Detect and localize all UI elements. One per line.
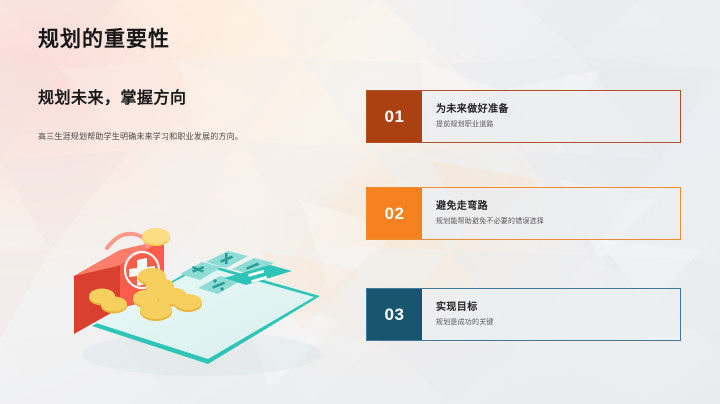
section-description: 高三生涯规划帮助学生明确未来学习和职业发展的方向。 bbox=[38, 131, 288, 143]
list-item-03[interactable]: 03 实现目标 规划是成功的关键 bbox=[366, 288, 681, 341]
card-subtitle: 规划是成功的关键 bbox=[436, 318, 680, 327]
card-subtitle: 规划能帮助避免不必要的错误选择 bbox=[436, 217, 680, 226]
card-number-badge: 03 bbox=[367, 289, 422, 340]
card-number-badge: 01 bbox=[367, 91, 422, 142]
card-title: 避免走弯路 bbox=[436, 200, 680, 213]
card-subtitle: 提前规划职业道路 bbox=[436, 120, 680, 129]
card-body: 为未来做好准备 提前规划职业道路 bbox=[422, 91, 680, 142]
page-title: 规划的重要性 bbox=[38, 27, 170, 52]
slide-canvas: 规划的重要性 规划未来，掌握方向 高三生涯规划帮助学生明确未来学习和职业发展的方… bbox=[0, 0, 720, 404]
key-points-list: 01 为未来做好准备 提前规划职业道路 02 避免走弯路 规划能帮助避免不必要的… bbox=[366, 90, 682, 342]
card-title: 实现目标 bbox=[436, 301, 680, 314]
card-body: 实现目标 规划是成功的关键 bbox=[422, 289, 680, 340]
first-aid-kit-coins-calculator-illustration bbox=[52, 218, 342, 383]
list-item-02[interactable]: 02 避免走弯路 规划能帮助避免不必要的错误选择 bbox=[366, 187, 681, 240]
section-headline: 规划未来，掌握方向 bbox=[38, 89, 187, 110]
list-item-01[interactable]: 01 为未来做好准备 提前规划职业道路 bbox=[366, 90, 681, 143]
card-number-badge: 02 bbox=[367, 188, 422, 239]
card-body: 避免走弯路 规划能帮助避免不必要的错误选择 bbox=[422, 188, 680, 239]
card-title: 为未来做好准备 bbox=[436, 103, 680, 116]
